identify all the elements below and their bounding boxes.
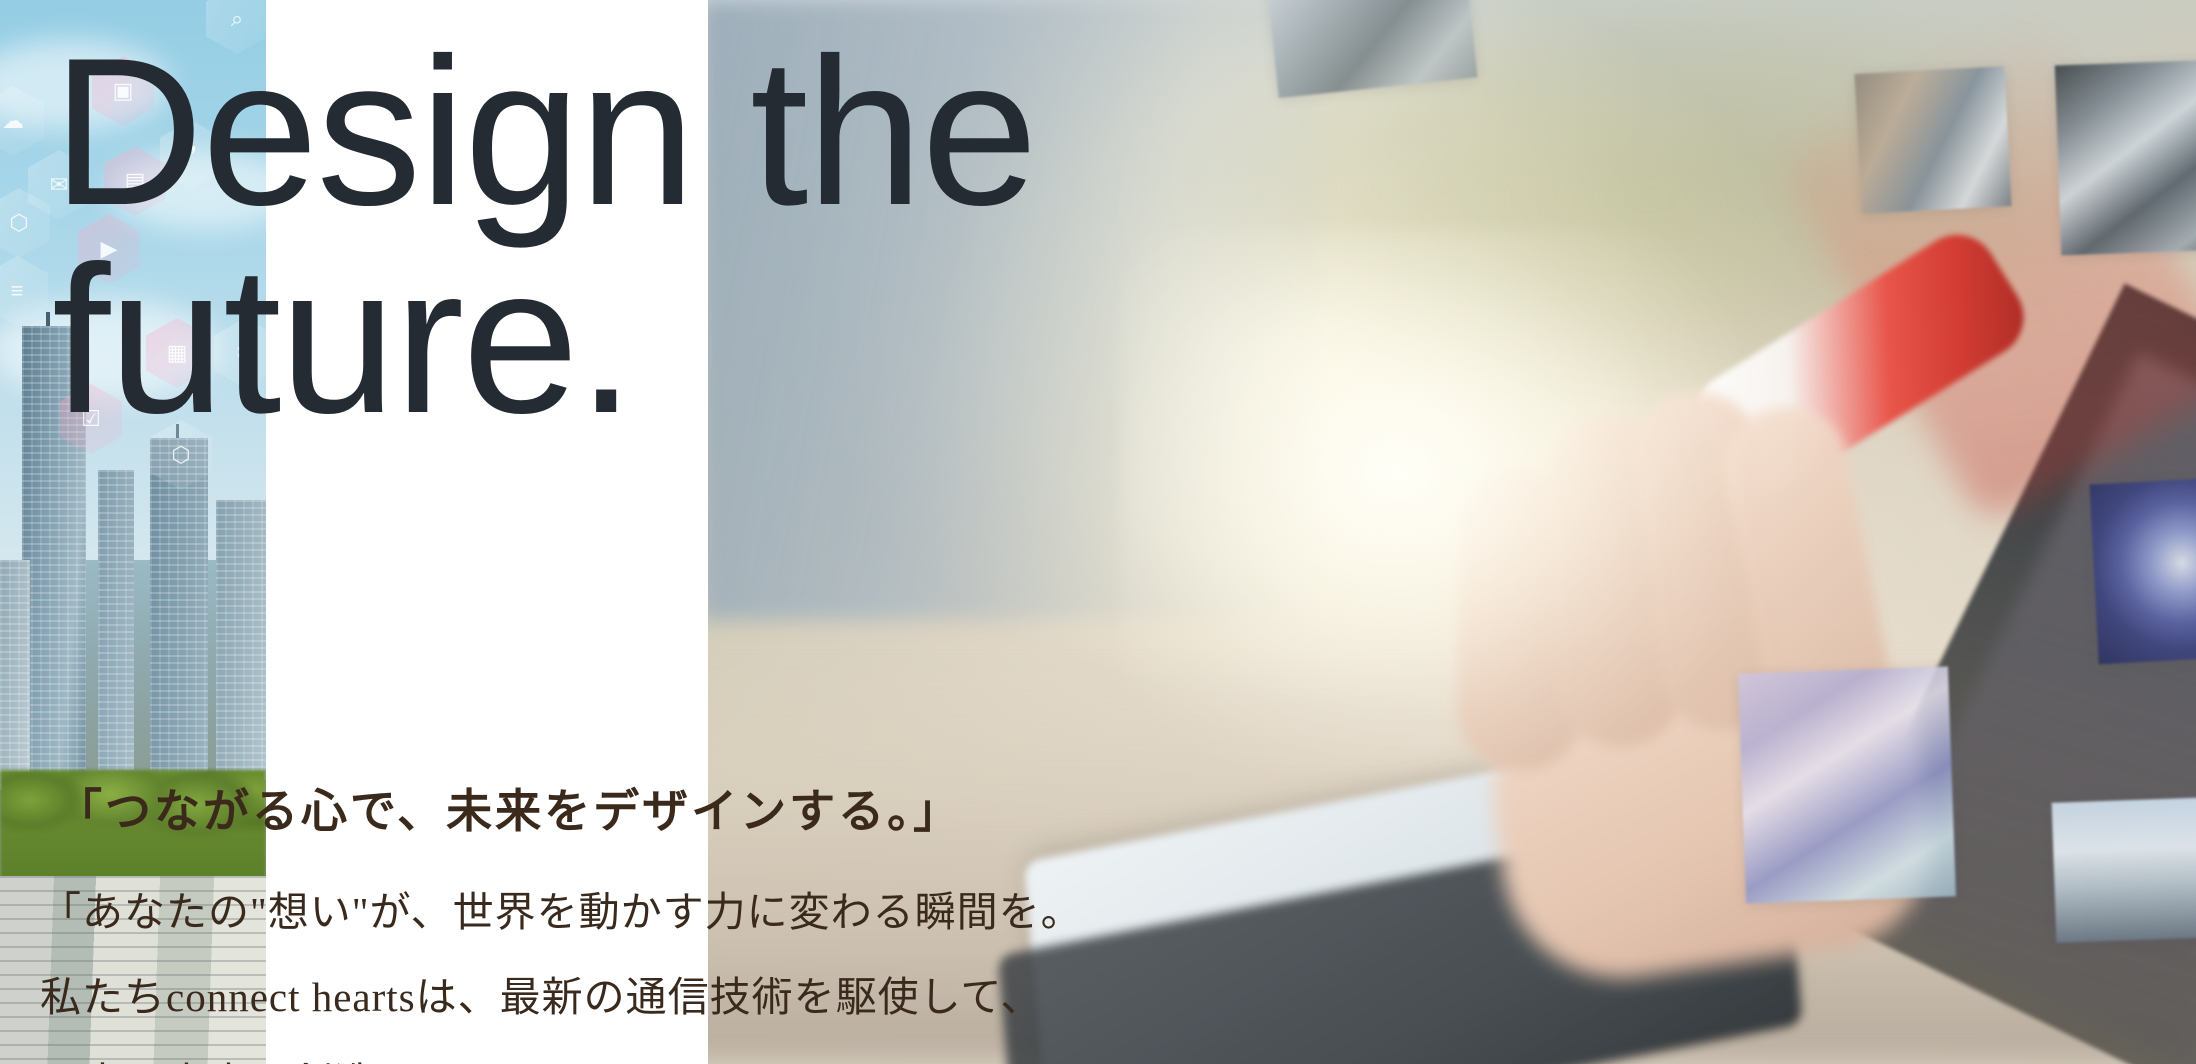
hero-tagline: 「つながる心で、未来をデザインする。」 xyxy=(56,775,962,841)
lead-line: 日本の未来を創造します xyxy=(40,1041,1083,1064)
hero-banner: ⌕ ☁ ✉ ❞ ▣ ▤ ⬡ ≡ ▶ ▦ ✲ ☑ ⬡ Design the fut… xyxy=(0,0,2196,1064)
lead-line: 私たちconnect heartsは、最新の通信技術を駆使して、 xyxy=(40,955,1083,1040)
page-title: Design the future. xyxy=(52,28,2052,444)
lead-line: 「あなたの"想い"が、世界を動かす力に変わる瞬間を。 xyxy=(40,870,1083,955)
hero-text-layer: Design the future. 「つながる心で、未来をデザインする。」 「… xyxy=(0,0,2196,1064)
hero-lead-copy: 「あなたの"想い"が、世界を動かす力に変わる瞬間を。 私たちconnect he… xyxy=(40,870,1083,1064)
